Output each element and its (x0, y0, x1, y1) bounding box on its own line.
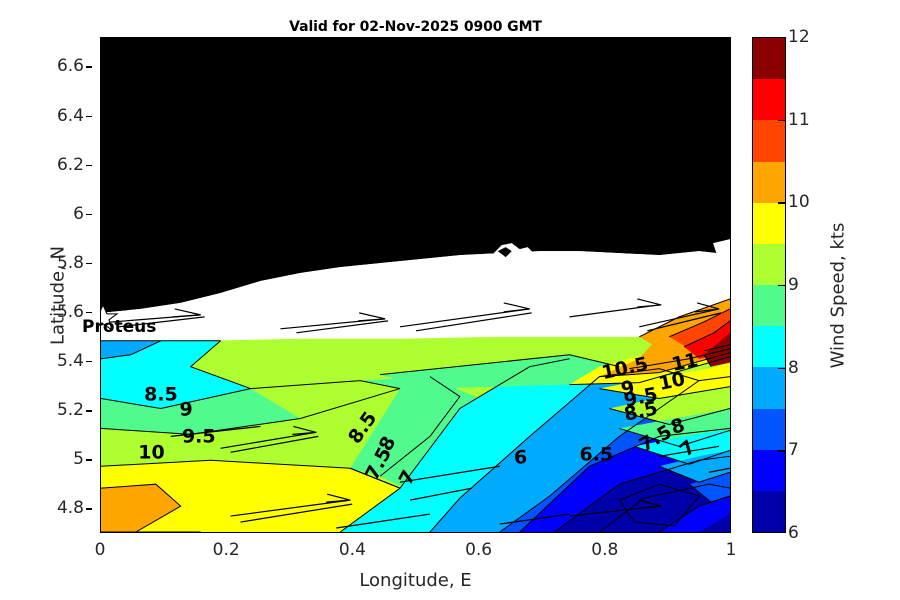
colorbar-tick-label: 12 (788, 27, 810, 47)
colorbar-label: Wind Speed, kts (828, 146, 849, 446)
contour-label-layer: 8.599.5108.587.5766.57.5788.59.591010.51… (101, 38, 730, 532)
colorbar-segment (753, 79, 785, 120)
colorbar-tick-mark (778, 120, 785, 121)
colorbar-tick-label: 9 (788, 275, 799, 295)
x-tick-label: 1 (726, 540, 737, 560)
colorbar-segment (753, 203, 785, 244)
contour-label: 8.5 (144, 386, 178, 405)
x-tick-label: 0.6 (465, 540, 492, 560)
colorbar-segment (753, 285, 785, 326)
contour-label: 7.5 (362, 445, 395, 484)
y-tick-mark (86, 361, 92, 362)
colorbar-tick-label: 6 (788, 523, 799, 543)
y-tick-mark (86, 508, 92, 509)
colorbar-segment (753, 491, 785, 532)
colorbar-segment (753, 162, 785, 203)
y-axis-ticks: 4.855.25.45.65.866.26.46.6 (0, 37, 92, 533)
y-tick-mark (86, 66, 92, 67)
wind-speed-contour-figure: Valid for 02-Nov-2025 0900 GMT (0, 0, 900, 600)
y-tick-mark (86, 214, 92, 215)
contour-label: 7 (397, 467, 420, 488)
x-tick-label: 0.2 (213, 540, 240, 560)
colorbar-tick-mark (778, 450, 785, 451)
colorbar-tick-mark (778, 285, 785, 286)
colorbar-tick-label: 7 (788, 440, 799, 460)
colorbar-segment (753, 38, 785, 79)
colorbar-segment (753, 367, 785, 408)
colorbar-segment (753, 244, 785, 285)
contour-label: 9.5 (182, 428, 216, 447)
colorbar-tick-mark (778, 202, 785, 203)
colorbar-segment (753, 120, 785, 161)
x-axis-ticks: 00.20.40.60.81 (100, 540, 731, 566)
contour-label: 7.5 (637, 423, 676, 456)
station-label: Proteus (82, 317, 156, 337)
contour-label: 7 (677, 438, 699, 461)
contour-label: 11 (670, 351, 700, 375)
y-tick-mark (86, 410, 92, 411)
contour-label: 10 (138, 443, 164, 462)
colorbar-tick-label: 8 (788, 358, 799, 378)
contour-label: 9 (180, 401, 193, 420)
colorbar-segment (753, 326, 785, 367)
contour-label: 6.5 (579, 446, 613, 465)
plot-area[interactable]: 8.599.5108.587.5766.57.5788.59.591010.51… (100, 37, 731, 533)
contour-label: 6 (514, 448, 527, 467)
colorbar-tick-label: 11 (788, 110, 810, 130)
y-tick-mark (86, 165, 92, 166)
page-title: Valid for 02-Nov-2025 0900 GMT (100, 19, 731, 35)
x-axis-label: Longitude, E (100, 570, 731, 591)
colorbar-segment (753, 409, 785, 450)
y-tick-label: 6.4 (57, 106, 84, 126)
colorbar-tick-mark (778, 368, 785, 369)
y-tick-mark (86, 312, 92, 313)
y-axis-label: Latitude, N (48, 146, 69, 446)
y-tick-label: 6 (73, 204, 84, 224)
y-tick-mark (86, 116, 92, 117)
y-tick-label: 5 (73, 449, 84, 469)
contour-label: 10.5 (600, 355, 650, 383)
y-tick-label: 6.6 (57, 56, 84, 76)
colorbar-tick-label: 10 (788, 192, 810, 212)
y-tick-mark (86, 263, 92, 264)
x-tick-label: 0 (95, 540, 106, 560)
x-tick-label: 0.8 (591, 540, 618, 560)
colorbar-segment (753, 450, 785, 491)
x-tick-label: 0.4 (339, 540, 366, 560)
y-tick-mark (86, 459, 92, 460)
y-tick-label: 4.8 (57, 498, 84, 518)
contour-label: 9 (619, 378, 636, 399)
